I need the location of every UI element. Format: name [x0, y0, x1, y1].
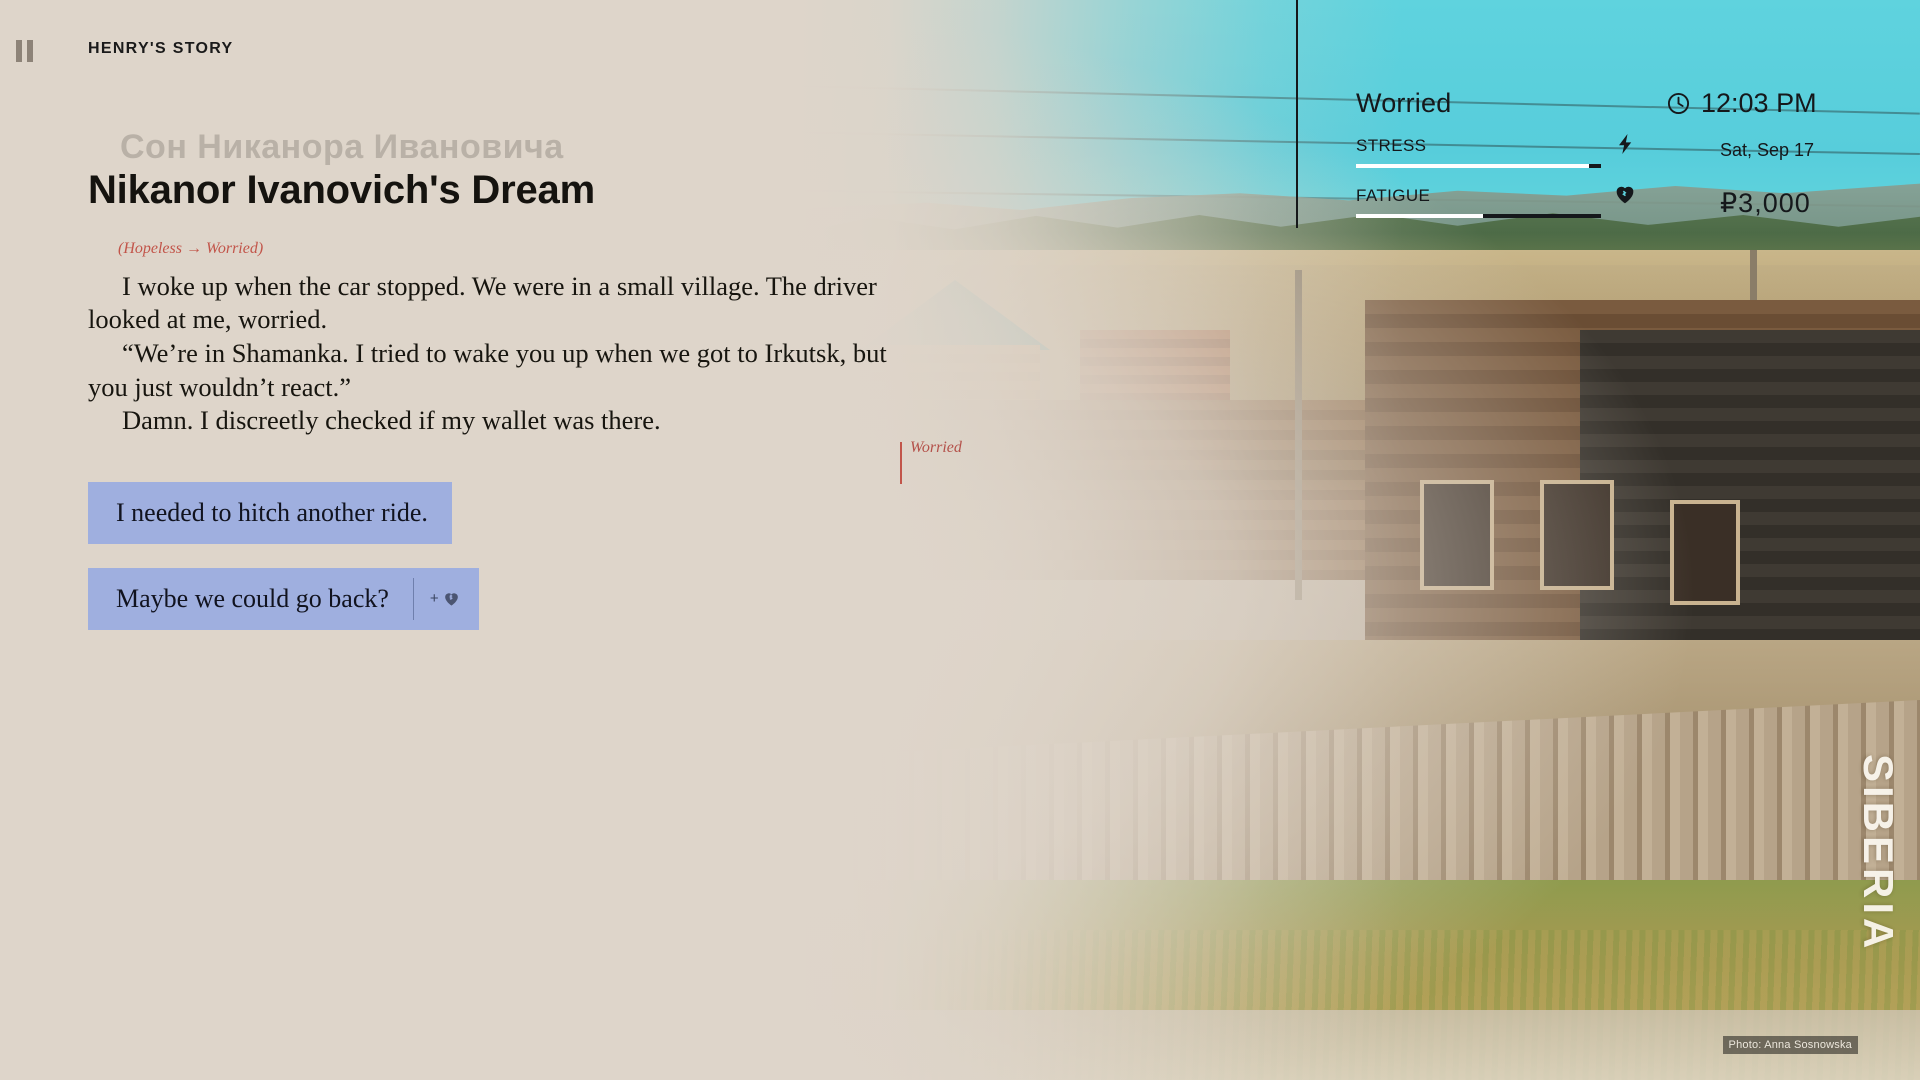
- choice-list: I needed to hitch another ride. Maybe we…: [88, 482, 908, 630]
- choice-option-2[interactable]: Maybe we could go back? +: [88, 568, 479, 630]
- stat-stress: STRESS: [1356, 136, 1601, 168]
- top-bar: HENRY'S STORY: [0, 0, 760, 88]
- stat-fatigue: FATIGUE: [1356, 186, 1601, 218]
- utility-pole: [1295, 270, 1302, 600]
- pause-button[interactable]: [16, 40, 38, 62]
- hud-time-label: 12:03 PM: [1701, 88, 1817, 119]
- stat-stress-track: [1356, 164, 1601, 168]
- story-paragraph: “We’re in Shamanka. I tried to wake you …: [88, 337, 908, 404]
- window: [1420, 480, 1494, 590]
- stat-stress-label: STRESS: [1356, 136, 1601, 156]
- stat-stress-fill: [1356, 164, 1589, 168]
- hud-mood-label: Worried: [1356, 88, 1451, 119]
- choice-cost-sign: +: [430, 590, 439, 607]
- window: [1670, 500, 1740, 605]
- chapter-title-translated: Nikanor Ivanovich's Dream: [88, 168, 908, 212]
- chapter-title-original: Сон Никанора Ивановича: [120, 130, 908, 166]
- choice-cost: +: [413, 578, 479, 620]
- story-prose: I woke up when the car stopped. We were …: [88, 270, 908, 438]
- mood-annotation-marker: Worried: [900, 442, 962, 484]
- choice-label: Maybe we could go back?: [116, 584, 413, 614]
- stat-fatigue-fill: [1356, 214, 1483, 218]
- hud-date-label: Sat, Sep 17: [1720, 140, 1814, 161]
- story-paragraph: I woke up when the car stopped. We were …: [88, 270, 908, 337]
- status-hud: Worried STRESS FATIGUE 12:03 PM Sat, Sep…: [1296, 0, 1920, 240]
- stat-fatigue-label: FATIGUE: [1356, 186, 1601, 206]
- lightning-bolt-icon: [1613, 132, 1637, 156]
- broken-heart-icon: [442, 589, 461, 608]
- hud-money-label: ₽3,000: [1720, 188, 1811, 219]
- window: [1540, 480, 1614, 590]
- stat-fatigue-track: [1356, 214, 1601, 218]
- annotation-label: Worried: [910, 439, 962, 457]
- hud-time: 12:03 PM: [1666, 88, 1817, 119]
- region-label: SIBERIA: [1854, 754, 1902, 952]
- pause-icon-bar-left: [16, 40, 22, 62]
- photo-credit-label: Photo: Anna Sosnowska: [1723, 1036, 1858, 1054]
- pause-icon-bar-right: [27, 40, 33, 62]
- broken-heart-icon: [1613, 182, 1637, 206]
- choice-option-1[interactable]: I needed to hitch another ride.: [88, 482, 452, 544]
- gravel-road: [560, 1010, 1920, 1080]
- mood-shift-label: (Hopeless → Worried): [118, 240, 908, 258]
- story-panel: Сон Никанора Ивановича Nikanor Ivanovich…: [88, 130, 908, 654]
- annotation-line: [900, 442, 902, 484]
- hud-divider-line: [1296, 0, 1298, 228]
- choice-label: I needed to hitch another ride.: [116, 498, 452, 528]
- clock-icon: [1666, 91, 1691, 116]
- story-paragraph: Damn. I discreetly checked if my wallet …: [88, 404, 908, 438]
- story-title-label: HENRY'S STORY: [88, 40, 233, 58]
